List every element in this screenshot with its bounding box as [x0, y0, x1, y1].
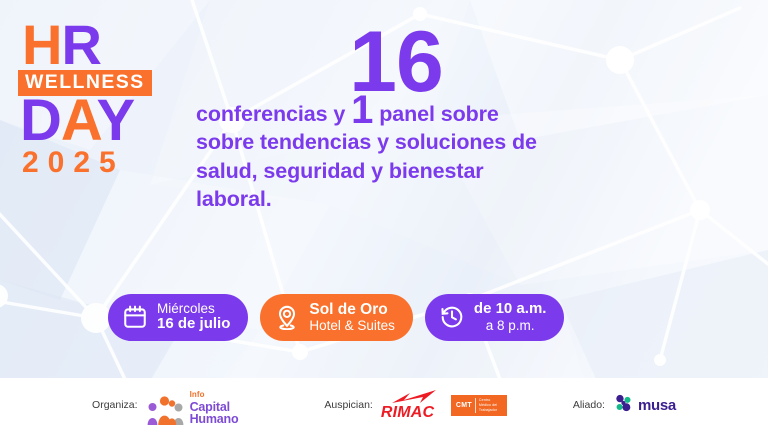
cmt-abbr: CMT: [456, 402, 472, 409]
headline-word-conferencias: conferencias: [196, 102, 327, 126]
panel-count: 1: [351, 88, 373, 132]
pill-date-text: Miércoles 16 de julio: [157, 301, 230, 333]
cmt-line-3: Trabajador: [479, 408, 497, 412]
logo-letter-y: Y: [96, 88, 134, 153]
cmt-line-1: Centro: [479, 398, 497, 402]
cmt-tagline: Centro Médico del Trabajador: [479, 398, 497, 412]
headline-word-y2: y: [371, 159, 383, 183]
sponsors-footer: Organiza: Info Capit: [0, 378, 768, 432]
pill-time[interactable]: de 10 a.m. a 8 p.m.: [425, 294, 565, 341]
event-details-pills: Miércoles 16 de julio Sol de Oro Hotel &…: [108, 294, 564, 341]
poster-canvas: HR WELLNESS DAY 2025 16 conferencias y 1…: [0, 0, 768, 432]
ich-info: Info: [190, 390, 205, 399]
pill-venue-text: Sol de Oro Hotel & Suites: [309, 301, 395, 333]
musa-logo[interactable]: musa: [613, 392, 676, 419]
logo-letter-r: R: [61, 13, 100, 76]
pill-date[interactable]: Miércoles 16 de julio: [108, 294, 248, 341]
cmt-line-2: Médico del: [479, 403, 497, 407]
headline-block: 16 conferencias y 1 panel sobre sobre te…: [196, 22, 616, 214]
event-logo: HR WELLNESS DAY 2025: [18, 22, 193, 178]
pill-date-line1: Miércoles: [157, 301, 230, 316]
headline-word-bienestar: bienestar: [389, 159, 484, 183]
clock-icon: [439, 304, 465, 330]
logo-letter-h: H: [22, 13, 61, 76]
headline-word-seguridad: seguridad: [263, 159, 365, 183]
cmt-divider: [475, 398, 476, 413]
ich-wordmark: Info Capital Humano: [190, 385, 239, 426]
auspician-group: Auspician: RIMAC CMT Centro Médico del T…: [324, 388, 506, 422]
headline-line-1: conferencias y 1 panel sobre: [196, 100, 616, 129]
logo-letter-d: D: [20, 88, 61, 153]
headline-word-salud: salud,: [196, 159, 258, 183]
aliado-group: Aliado: musa: [573, 392, 676, 419]
logo-hr: HR: [22, 22, 193, 68]
headline-word-panel: panel: [379, 102, 435, 126]
headline-word-y: y: [333, 102, 345, 126]
headline-description: conferencias y 1 panel sobre sobre tende…: [196, 100, 616, 214]
pill-venue-line1: Sol de Oro: [309, 301, 395, 318]
pill-time-line1: de 10 a.m.: [474, 301, 547, 318]
ich-humano: Humano: [190, 413, 239, 426]
location-pin-icon: [274, 304, 300, 330]
headline-word-sobre: sobre: [441, 102, 499, 126]
headline-line-3: salud, seguridad y bienestar: [196, 157, 616, 186]
rimac-wordmark: RIMAC: [381, 404, 434, 422]
conference-count: 16: [176, 22, 616, 104]
logo-year: 2025: [22, 148, 193, 178]
calendar-icon: [122, 304, 148, 330]
info-capital-humano-logo[interactable]: Info Capital Humano: [146, 385, 239, 426]
musa-pinwheel-icon: [613, 392, 635, 419]
people-icon: [146, 396, 186, 426]
organiza-group: Organiza: Info Capit: [92, 385, 238, 426]
auspician-label: Auspician:: [324, 399, 372, 411]
cmt-logo[interactable]: CMT Centro Médico del Trabajador: [451, 395, 507, 416]
headline-line-4: laboral.: [196, 185, 616, 214]
pill-date-line2: 16 de julio: [157, 316, 230, 333]
pill-time-line2: a 8 p.m.: [474, 318, 547, 333]
musa-wordmark: musa: [638, 397, 676, 414]
rimac-logo[interactable]: RIMAC: [381, 388, 443, 422]
organiza-label: Organiza:: [92, 399, 138, 411]
headline-line-2: sobre tendencias y soluciones de: [196, 128, 616, 157]
pill-venue-line2: Hotel & Suites: [309, 318, 395, 333]
aliado-label: Aliado:: [573, 399, 605, 411]
pill-time-text: de 10 a.m. a 8 p.m.: [474, 301, 547, 333]
logo-letter-a: A: [61, 88, 97, 153]
logo-day: DAY: [20, 97, 193, 146]
pill-venue[interactable]: Sol de Oro Hotel & Suites: [260, 294, 413, 341]
